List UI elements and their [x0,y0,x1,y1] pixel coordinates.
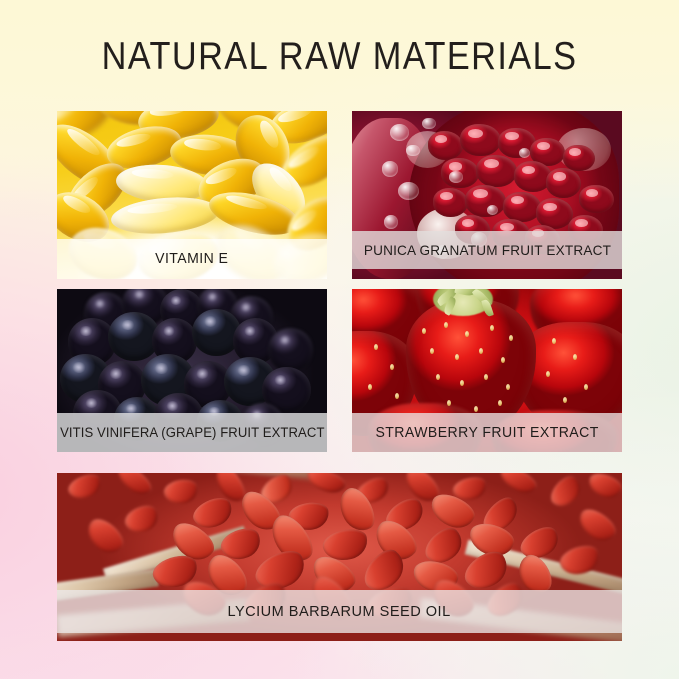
poster-canvas: NATURAL RAW MATERIALS [0,0,679,679]
tile-caption-band: PUNICA GRANATUM FRUIT EXTRACT [352,231,622,269]
tile-caption-text: VITIS VINIFERA (GRAPE) FRUIT EXTRACT [60,425,324,440]
page-title: NATURAL RAW MATERIALS [41,34,639,80]
tile-caption-text: LYCIUM BARBARUM SEED OIL [228,603,451,620]
tile-caption-text: STRAWBERRY FRUIT EXTRACT [375,425,598,441]
tile-caption-band: STRAWBERRY FRUIT EXTRACT [352,413,622,452]
tile-caption-band: LYCIUM BARBARUM SEED OIL [57,590,622,633]
tile-caption-band: VITAMIN E [57,239,327,279]
material-tile-grape: VITIS VINIFERA (GRAPE) FRUIT EXTRACT [57,289,327,452]
tile-caption-band: VITIS VINIFERA (GRAPE) FRUIT EXTRACT [57,413,327,452]
tile-caption-text: VITAMIN E [155,251,228,267]
material-tile-pomegranate: PUNICA GRANATUM FRUIT EXTRACT [352,111,622,279]
material-tile-goji: LYCIUM BARBARUM SEED OIL [57,473,622,641]
tile-caption-text: PUNICA GRANATUM FRUIT EXTRACT [363,242,610,258]
material-tile-strawberry: STRAWBERRY FRUIT EXTRACT [352,289,622,452]
material-tile-vitamin-e: VITAMIN E [57,111,327,279]
